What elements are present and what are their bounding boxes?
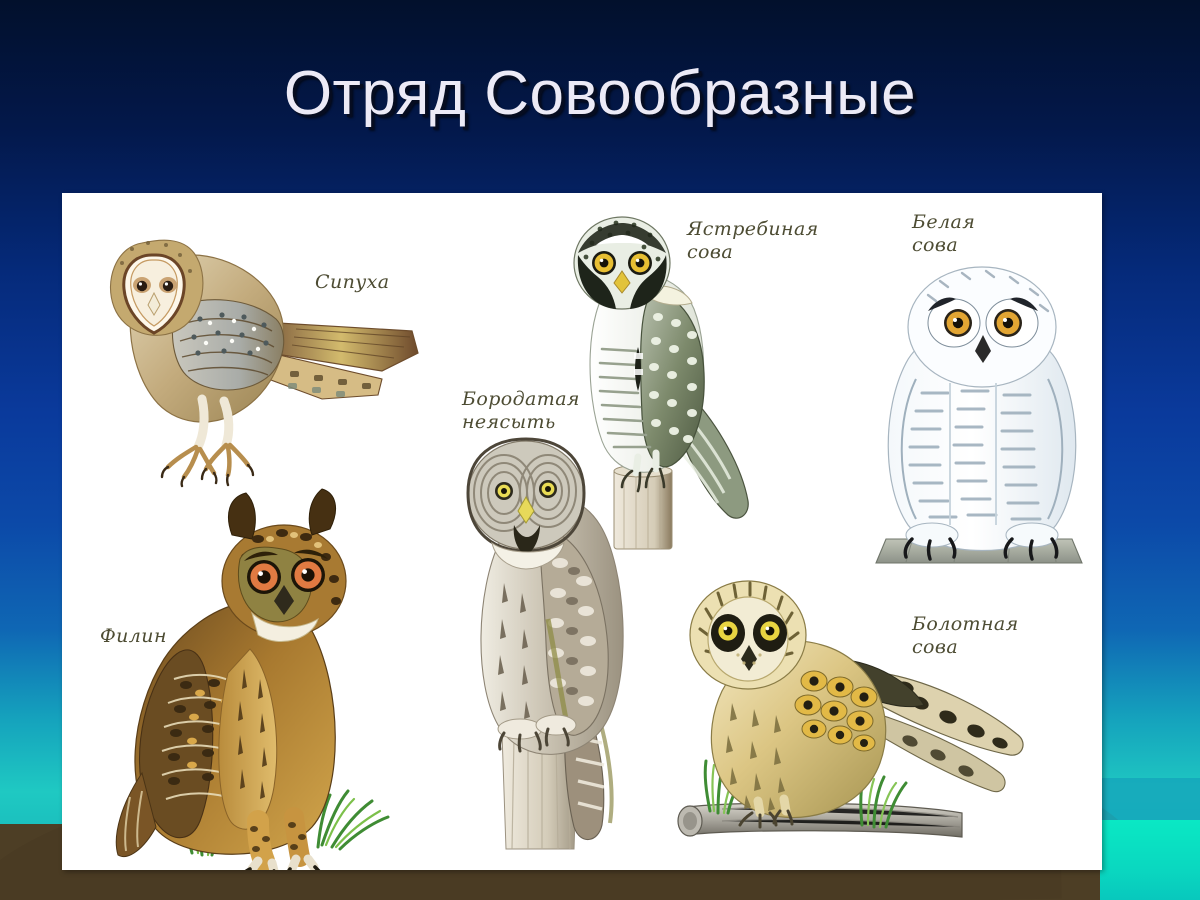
label-short-eared-owl: Болотная сова: [912, 613, 1019, 659]
owl-eagle-owl: [82, 473, 412, 870]
illustration-plate: Сипуха Ястребиная сова Белая сова Борода…: [62, 193, 1102, 870]
slide: Отряд Совообразные: [0, 0, 1200, 900]
background-teal-corner: [1100, 820, 1200, 900]
owl-short-eared-owl: [662, 563, 1042, 863]
label-barn-owl: Сипуха: [315, 271, 389, 294]
label-snowy-owl: Белая сова: [912, 211, 975, 257]
page-title: Отряд Совообразные: [0, 58, 1200, 130]
owl-barn-owl: [82, 203, 422, 483]
label-eagle-owl: Филин: [100, 625, 167, 648]
label-hawk-owl: Ястребиная сова: [687, 218, 819, 264]
owl-snowy-owl: [862, 253, 1102, 583]
owl-great-grey-owl: [452, 433, 682, 853]
label-great-grey-owl: Бородатая неясыть: [462, 388, 580, 434]
